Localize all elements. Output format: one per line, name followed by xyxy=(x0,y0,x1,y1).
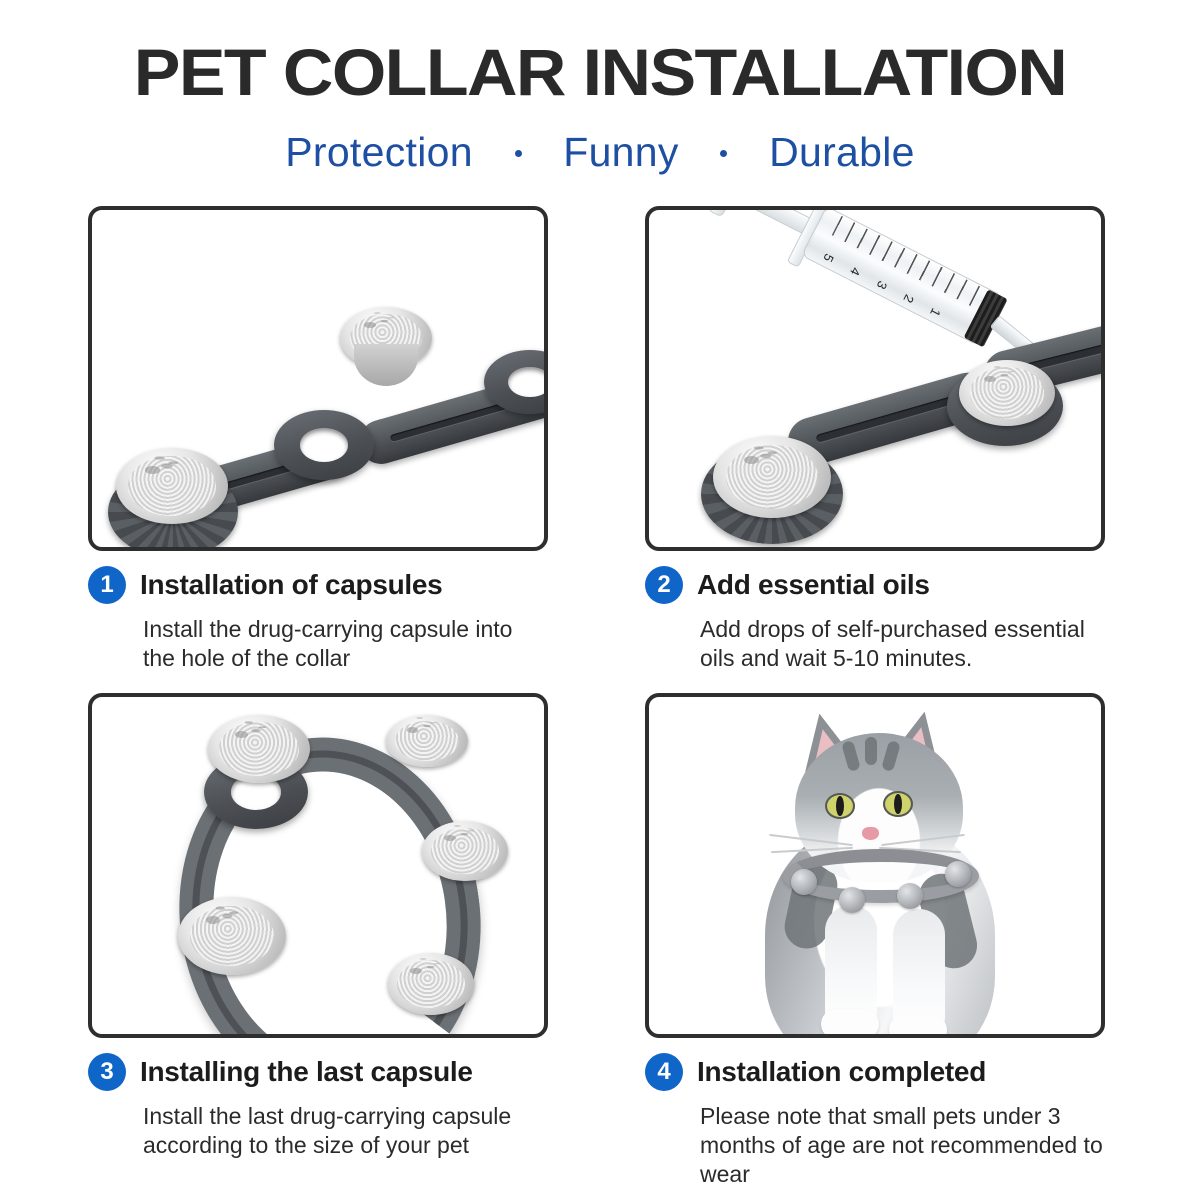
cat-photo xyxy=(649,697,1101,1034)
cat-paw-left xyxy=(821,1009,879,1038)
installed-capsule-icon xyxy=(116,448,228,524)
step-2-heading-row: 2 Add essential oils xyxy=(645,565,1105,605)
illustration-collar-with-capsule xyxy=(92,210,544,547)
illustration-cat-wearing-collar xyxy=(649,697,1101,1034)
step-4-number-badge: 4 xyxy=(645,1053,683,1091)
worn-collar-capsule xyxy=(839,887,865,913)
step-1-image-panel xyxy=(88,206,548,551)
illustration-collar-ring xyxy=(92,697,544,1034)
subtitle-dot-separator-2 xyxy=(720,150,727,157)
step-4-heading-row: 4 Installation completed xyxy=(645,1052,1105,1092)
step-2-body: Add drops of self-purchased essential oi… xyxy=(700,615,1105,673)
step-3-body: Install the last drug-carrying capsule a… xyxy=(143,1102,548,1160)
collar-capsule-left-icon xyxy=(713,436,831,518)
infographic-page: PET COLLAR INSTALLATION Protection Funny… xyxy=(0,0,1200,1200)
cat-eye-left xyxy=(825,793,855,819)
step-4-title: Installation completed xyxy=(697,1056,986,1088)
worn-collar-capsule xyxy=(897,883,923,909)
steps-grid: 5 4 3 2 1 xyxy=(88,206,1112,1181)
worn-collar-capsule xyxy=(945,861,971,887)
syringe-thumb-rest xyxy=(707,206,749,217)
worn-collar-capsule xyxy=(791,869,817,895)
subtitle-word-durable: Durable xyxy=(769,126,915,178)
collar-hole xyxy=(508,367,548,398)
step-2-number-badge: 2 xyxy=(645,566,683,604)
ring-capsule-lower-right-icon xyxy=(388,953,474,1015)
step-1-body: Install the drug-carrying capsule into t… xyxy=(143,615,548,673)
loose-capsule-base xyxy=(354,344,418,386)
step-2-title: Add essential oils xyxy=(697,569,930,601)
step-2-image-panel: 5 4 3 2 1 xyxy=(645,206,1105,551)
page-title: PET COLLAR INSTALLATION xyxy=(0,36,1200,108)
ring-capsule-top-icon xyxy=(208,715,310,783)
ring-capsule-right-icon xyxy=(422,821,508,881)
ring-capsule-top-right-icon xyxy=(386,715,468,767)
step-4-image-panel xyxy=(645,693,1105,1038)
ring-capsule-left-icon xyxy=(178,897,286,975)
step-1-heading-row: 1 Installation of capsules xyxy=(88,565,548,605)
cat-nose xyxy=(862,827,879,840)
step-1-title: Installation of capsules xyxy=(140,569,442,601)
collar-capsule-right-icon xyxy=(959,360,1055,426)
cat-head-stripe xyxy=(865,737,877,765)
cat-paw-right xyxy=(889,1015,947,1038)
step-4-body: Please note that small pets under 3 mont… xyxy=(700,1102,1105,1189)
step-3-image-panel xyxy=(88,693,548,1038)
subtitle-word-protection: Protection xyxy=(285,126,473,178)
step-3-heading-row: 3 Installing the last capsule xyxy=(88,1052,548,1092)
collar-empty-hole-pad xyxy=(274,410,374,480)
step-2-caption: 2 Add essential oils Add drops of self-p… xyxy=(645,551,1105,693)
syringe-graduation-ticks xyxy=(818,216,984,335)
step-3-caption: 3 Installing the last capsule Install th… xyxy=(88,1038,548,1181)
step-4-caption: 4 Installation completed Please note tha… xyxy=(645,1038,1105,1181)
collar-hole xyxy=(300,428,348,462)
step-3-number-badge: 3 xyxy=(88,1053,126,1091)
step-1-caption: 1 Installation of capsules Install the d… xyxy=(88,551,548,693)
subtitle-word-funny: Funny xyxy=(563,126,678,178)
illustration-syringe-and-collar: 5 4 3 2 1 xyxy=(649,210,1101,547)
step-1-number-badge: 1 xyxy=(88,566,126,604)
cat-eye-right xyxy=(883,791,913,817)
page-subtitle: Protection Funny Durable xyxy=(0,126,1200,178)
subtitle-dot-separator-1 xyxy=(515,150,522,157)
step-3-title: Installing the last capsule xyxy=(140,1056,473,1088)
strap-slot xyxy=(816,394,963,443)
